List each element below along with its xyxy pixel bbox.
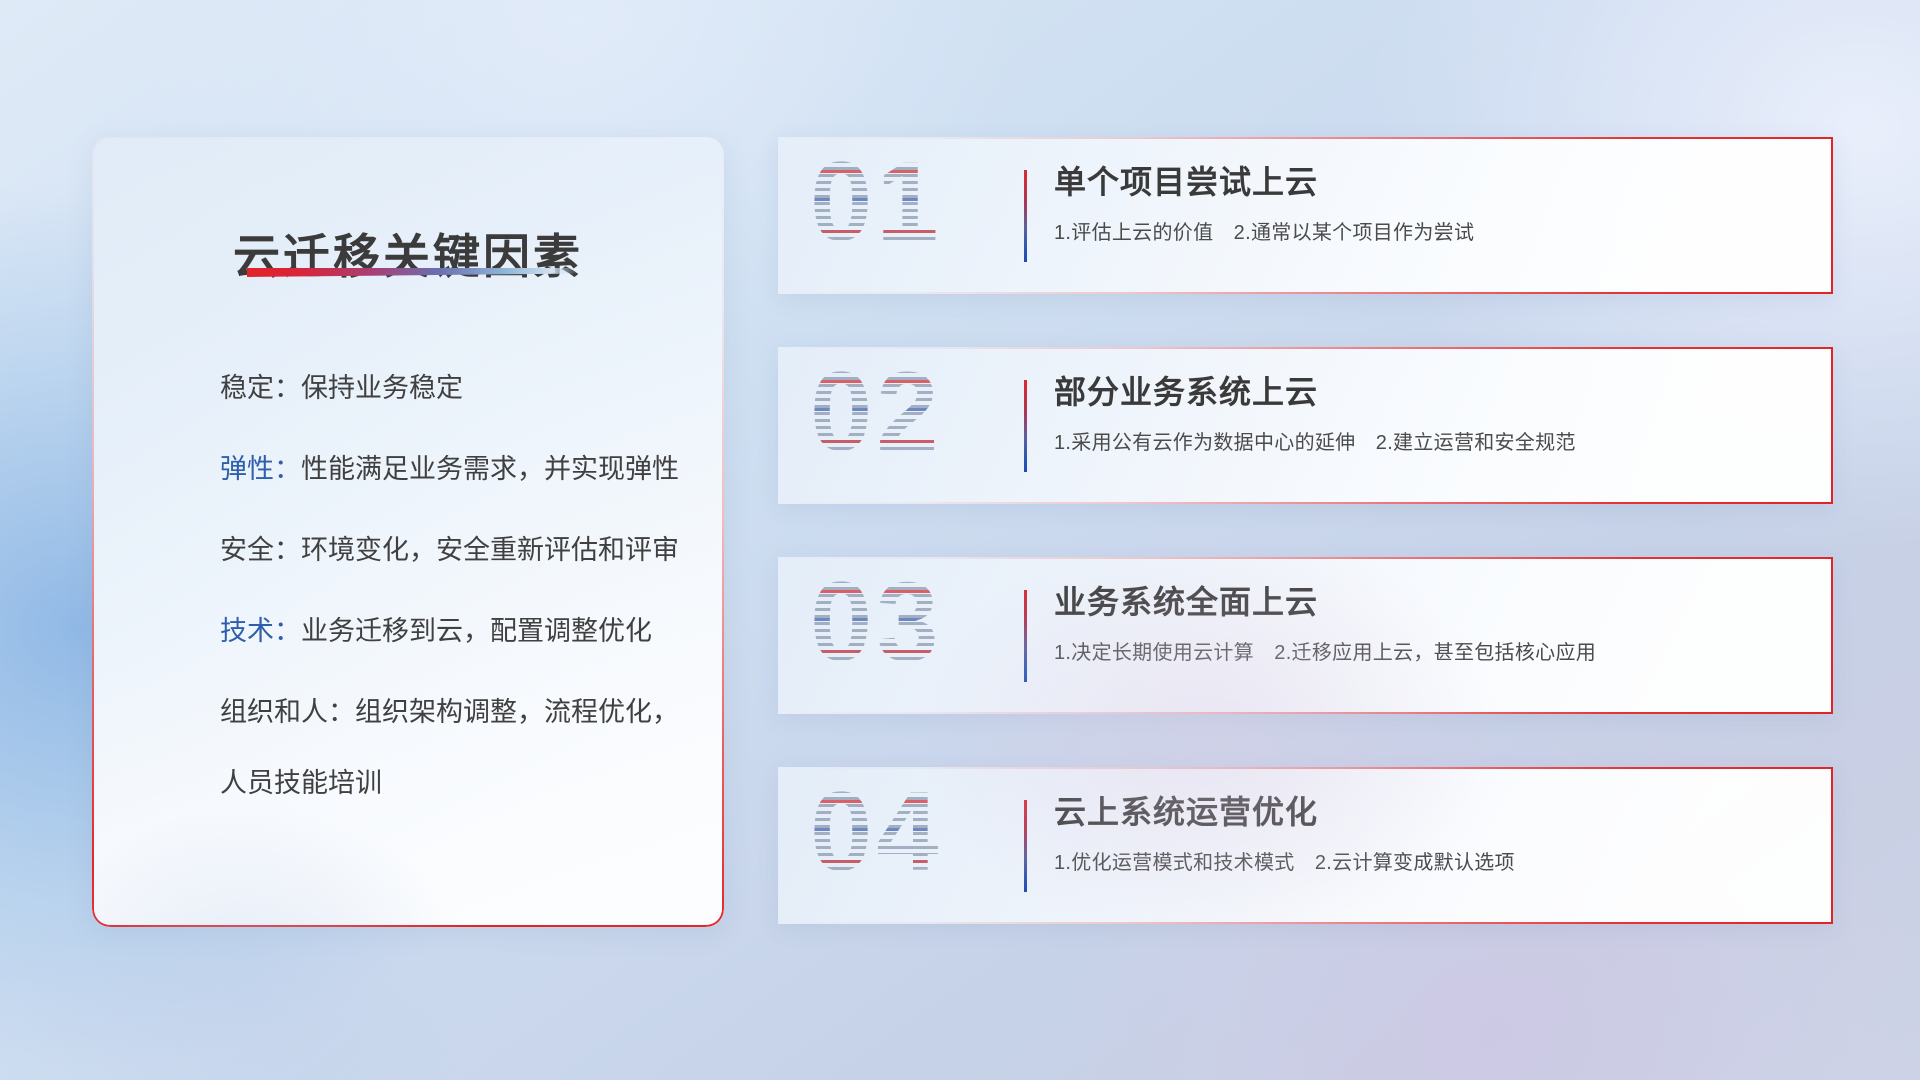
card-step-number: 03 03 [810,579,1000,691]
card-body: 部分业务系统上云 1.采用公有云作为数据中心的延伸 2.建立运营和安全规范 [1054,373,1809,455]
list-item: 稳定：保持业务稳定 [220,375,684,402]
card-body: 云上系统运营优化 1.优化运营模式和技术模式 2.云计算变成默认选项 [1054,793,1809,875]
card-title: 单个项目尝试上云 [1054,163,1809,202]
factor-label: 技术： [220,616,301,646]
list-item: 安全：环境变化，安全重新评估和评审 [220,537,684,564]
card-title: 云上系统运营优化 [1054,793,1809,832]
card-title: 业务系统全面上云 [1054,583,1809,622]
list-item: 技术：业务迁移到云，配置调整优化 [220,618,684,645]
step-number-glyph-tint: 03 [810,579,943,678]
card-accent-bar [1024,170,1027,262]
card-step-number: 01 01 [810,159,1000,271]
factor-label: 稳定： [220,373,301,403]
card-accent-bar [1024,380,1027,472]
stage-card[interactable]: 02 02 部分业务系统上云 1.采用公有云作为数据中心的延伸 2.建立运营和安… [778,347,1833,504]
page-title: 云迁移关键因素 [92,218,724,287]
factor-label: 弹性： [220,454,301,484]
stage-card[interactable]: 03 03 业务系统全面上云 1.决定长期使用云计算 2.迁移应用上云，甚至包括… [778,557,1833,714]
factor-text: 组织架构调整，流程优化， [355,697,679,727]
list-item: 弹性：性能满足业务需求，并实现弹性 [220,456,684,483]
card-step-number: 02 02 [810,369,1000,481]
list-item-continuation: 人员技能培训 [220,770,684,797]
card-title: 部分业务系统上云 [1054,373,1809,412]
step-number-glyph-tint: 02 [810,369,943,468]
list-item: 组织和人：组织架构调整，流程优化， [220,699,684,726]
step-number-glyph-tint: 04 [810,789,943,888]
slide-root: 云迁移关键因素 稳定：保持业务稳定 弹性：性能满足业务需求，并实现弹性 安全：环… [0,0,1920,1080]
stage-card-list: 01 01 单个项目尝试上云 1.评估上云的价值 2.通常以某个项目作为尝试 0… [778,137,1833,924]
card-description: 1.优化运营模式和技术模式 2.云计算变成默认选项 [1054,846,1809,875]
key-factors-panel: 云迁移关键因素 稳定：保持业务稳定 弹性：性能满足业务需求，并实现弹性 安全：环… [92,137,724,927]
factor-label: 组织和人： [220,697,355,727]
card-description: 1.评估上云的价值 2.通常以某个项目作为尝试 [1054,216,1809,245]
stage-card[interactable]: 04 04 云上系统运营优化 1.优化运营模式和技术模式 2.云计算变成默认选项 [778,767,1833,924]
factor-label: 安全： [220,535,301,565]
card-body: 业务系统全面上云 1.决定长期使用云计算 2.迁移应用上云，甚至包括核心应用 [1054,583,1809,665]
card-body: 单个项目尝试上云 1.评估上云的价值 2.通常以某个项目作为尝试 [1054,163,1809,245]
factor-text: 环境变化，安全重新评估和评审 [301,535,679,565]
card-accent-bar [1024,800,1027,892]
stage-card[interactable]: 01 01 单个项目尝试上云 1.评估上云的价值 2.通常以某个项目作为尝试 [778,137,1833,294]
card-accent-bar [1024,590,1027,682]
factor-text: 业务迁移到云，配置调整优化 [301,616,652,646]
card-description: 1.采用公有云作为数据中心的延伸 2.建立运营和安全规范 [1054,426,1809,455]
factor-text: 保持业务稳定 [301,373,463,403]
card-step-number: 04 04 [810,789,1000,901]
factor-text: 性能满足业务需求，并实现弹性 [301,454,679,484]
step-number-glyph-tint: 01 [810,159,943,258]
factor-list: 稳定：保持业务稳定 弹性：性能满足业务需求，并实现弹性 安全：环境变化，安全重新… [220,375,684,851]
factor-text-continuation: 人员技能培训 [220,768,382,798]
card-description: 1.决定长期使用云计算 2.迁移应用上云，甚至包括核心应用 [1054,636,1809,665]
